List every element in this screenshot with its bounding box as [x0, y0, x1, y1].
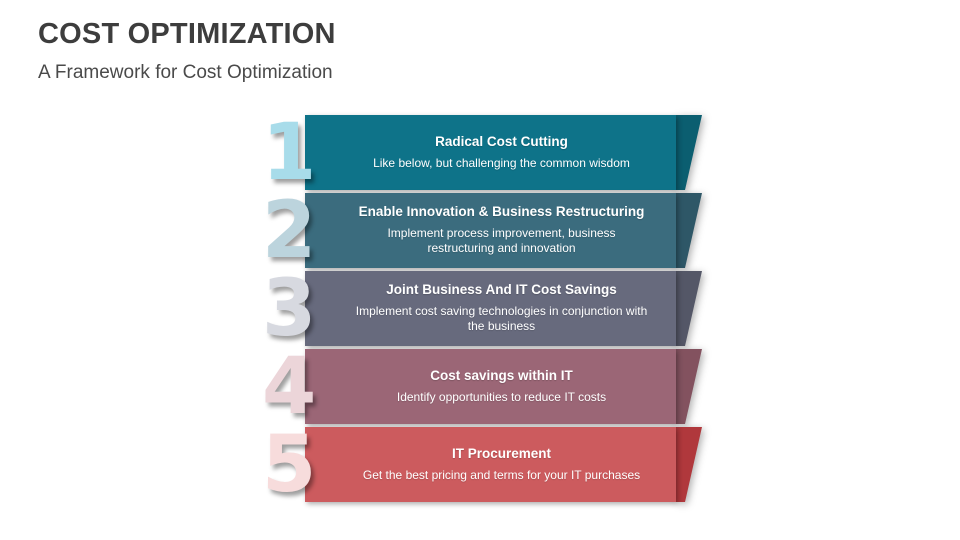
band-bar-3	[305, 271, 676, 346]
band-tail-shape-3	[676, 271, 702, 346]
band-bar-5	[305, 427, 676, 502]
band-tail-shape-1	[676, 115, 702, 190]
framework-band-3[interactable]: Joint Business And IT Cost Savings Imple…	[262, 271, 702, 346]
page-subtitle: A Framework for Cost Optimization	[38, 62, 918, 85]
band-bar-1	[305, 115, 676, 190]
band-tail-arrow-2	[676, 193, 702, 268]
band-bar-2	[305, 193, 676, 268]
band-bar-4	[305, 349, 676, 424]
band-tail-shape-2	[676, 193, 702, 268]
framework-band-4[interactable]: Cost savings within IT Identify opportun…	[262, 349, 702, 424]
framework-band-5[interactable]: IT Procurement Get the best pricing and …	[262, 427, 702, 502]
band-tail-shape-5	[676, 427, 702, 502]
framework-band-2[interactable]: Enable Innovation & Business Restructuri…	[262, 193, 702, 268]
slide-canvas: COST OPTIMIZATION A Framework for Cost O…	[0, 0, 960, 540]
page-title: COST OPTIMIZATION	[38, 18, 918, 51]
band-tail-arrow-4	[676, 349, 702, 424]
slide-header: COST OPTIMIZATION A Framework for Cost O…	[38, 18, 918, 85]
framework-band-1[interactable]: Radical Cost Cutting Like below, but cha…	[262, 115, 702, 190]
framework-band-list: Radical Cost Cutting Like below, but cha…	[0, 112, 960, 512]
band-tail-arrow-1	[676, 115, 702, 190]
band-tail-arrow-5	[676, 427, 702, 502]
band-tail-shape-4	[676, 349, 702, 424]
band-tail-arrow-3	[676, 271, 702, 346]
